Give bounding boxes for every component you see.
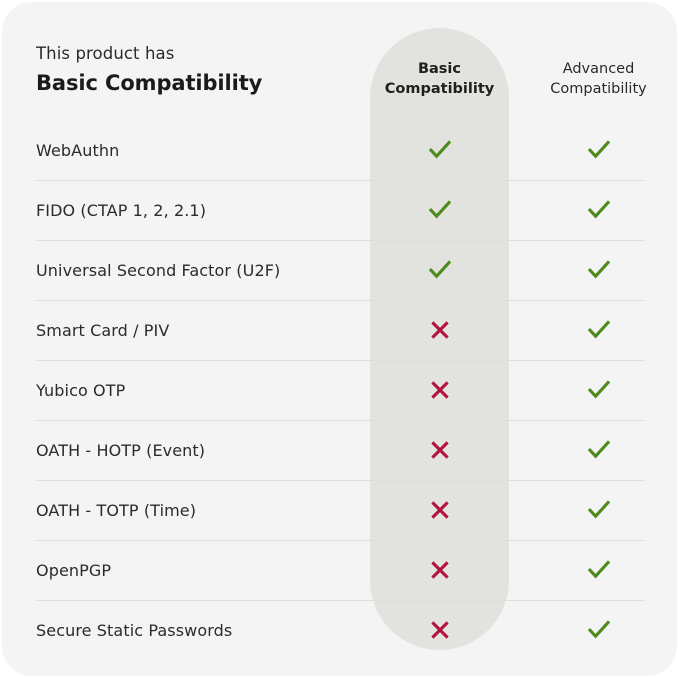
cell-basic xyxy=(370,480,509,540)
table-row: OATH - HOTP (Event) xyxy=(2,420,677,480)
column-header-basic: Basic Compatibility xyxy=(370,60,509,99)
feature-label: Smart Card / PIV xyxy=(36,300,169,360)
table-row: Yubico OTP xyxy=(2,360,677,420)
column-header-advanced-line2: Compatibility xyxy=(529,80,668,100)
feature-label: Secure Static Passwords xyxy=(36,600,232,660)
table-row: OATH - TOTP (Time) xyxy=(2,480,677,540)
feature-label: Yubico OTP xyxy=(36,360,125,420)
feature-label: OATH - TOTP (Time) xyxy=(36,480,196,540)
feature-label: OATH - HOTP (Event) xyxy=(36,420,205,480)
table-row: FIDO (CTAP 1, 2, 2.1) xyxy=(2,180,677,240)
cell-basic xyxy=(370,540,509,600)
cell-advanced xyxy=(529,600,668,660)
cell-basic xyxy=(370,300,509,360)
table-row: Smart Card / PIV xyxy=(2,300,677,360)
table-header: This product has Basic Compatibility Bas… xyxy=(2,2,677,120)
column-header-basic-line1: Basic xyxy=(370,60,509,80)
cross-icon xyxy=(428,378,452,402)
check-icon xyxy=(586,557,612,583)
cell-advanced xyxy=(529,420,668,480)
check-icon xyxy=(586,377,612,403)
cross-icon xyxy=(428,618,452,642)
check-icon xyxy=(586,497,612,523)
table-row: WebAuthn xyxy=(2,120,677,180)
feature-table: WebAuthnFIDO (CTAP 1, 2, 2.1)Universal S… xyxy=(2,120,677,660)
cell-advanced xyxy=(529,120,668,180)
cross-icon xyxy=(428,318,452,342)
cell-advanced xyxy=(529,240,668,300)
table-row: OpenPGP xyxy=(2,540,677,600)
cell-basic xyxy=(370,120,509,180)
cell-basic xyxy=(370,240,509,300)
table-row: Secure Static Passwords xyxy=(2,600,677,660)
page-title: This product has Basic Compatibility xyxy=(36,42,336,98)
title-subtext: This product has xyxy=(36,42,336,66)
cell-advanced xyxy=(529,480,668,540)
check-icon xyxy=(586,317,612,343)
check-icon xyxy=(586,197,612,223)
feature-label: OpenPGP xyxy=(36,540,111,600)
cell-basic xyxy=(370,360,509,420)
cell-basic xyxy=(370,420,509,480)
title-main: Basic Compatibility xyxy=(36,68,336,98)
table-row: Universal Second Factor (U2F) xyxy=(2,240,677,300)
card-content: This product has Basic Compatibility Bas… xyxy=(2,2,677,676)
cell-advanced xyxy=(529,360,668,420)
cross-icon xyxy=(428,438,452,462)
check-icon xyxy=(427,257,453,283)
check-icon xyxy=(427,137,453,163)
column-header-advanced: Advanced Compatibility xyxy=(529,60,668,99)
cell-basic xyxy=(370,180,509,240)
feature-label: FIDO (CTAP 1, 2, 2.1) xyxy=(36,180,206,240)
feature-label: WebAuthn xyxy=(36,120,119,180)
cell-advanced xyxy=(529,540,668,600)
column-header-advanced-line1: Advanced xyxy=(529,60,668,80)
check-icon xyxy=(586,137,612,163)
cross-icon xyxy=(428,498,452,522)
cell-basic xyxy=(370,600,509,660)
check-icon xyxy=(586,617,612,643)
compatibility-card: This product has Basic Compatibility Bas… xyxy=(2,2,677,676)
cross-icon xyxy=(428,558,452,582)
feature-label: Universal Second Factor (U2F) xyxy=(36,240,280,300)
check-icon xyxy=(586,437,612,463)
cell-advanced xyxy=(529,300,668,360)
check-icon xyxy=(586,257,612,283)
check-icon xyxy=(427,197,453,223)
cell-advanced xyxy=(529,180,668,240)
column-header-basic-line2: Compatibility xyxy=(370,80,509,100)
